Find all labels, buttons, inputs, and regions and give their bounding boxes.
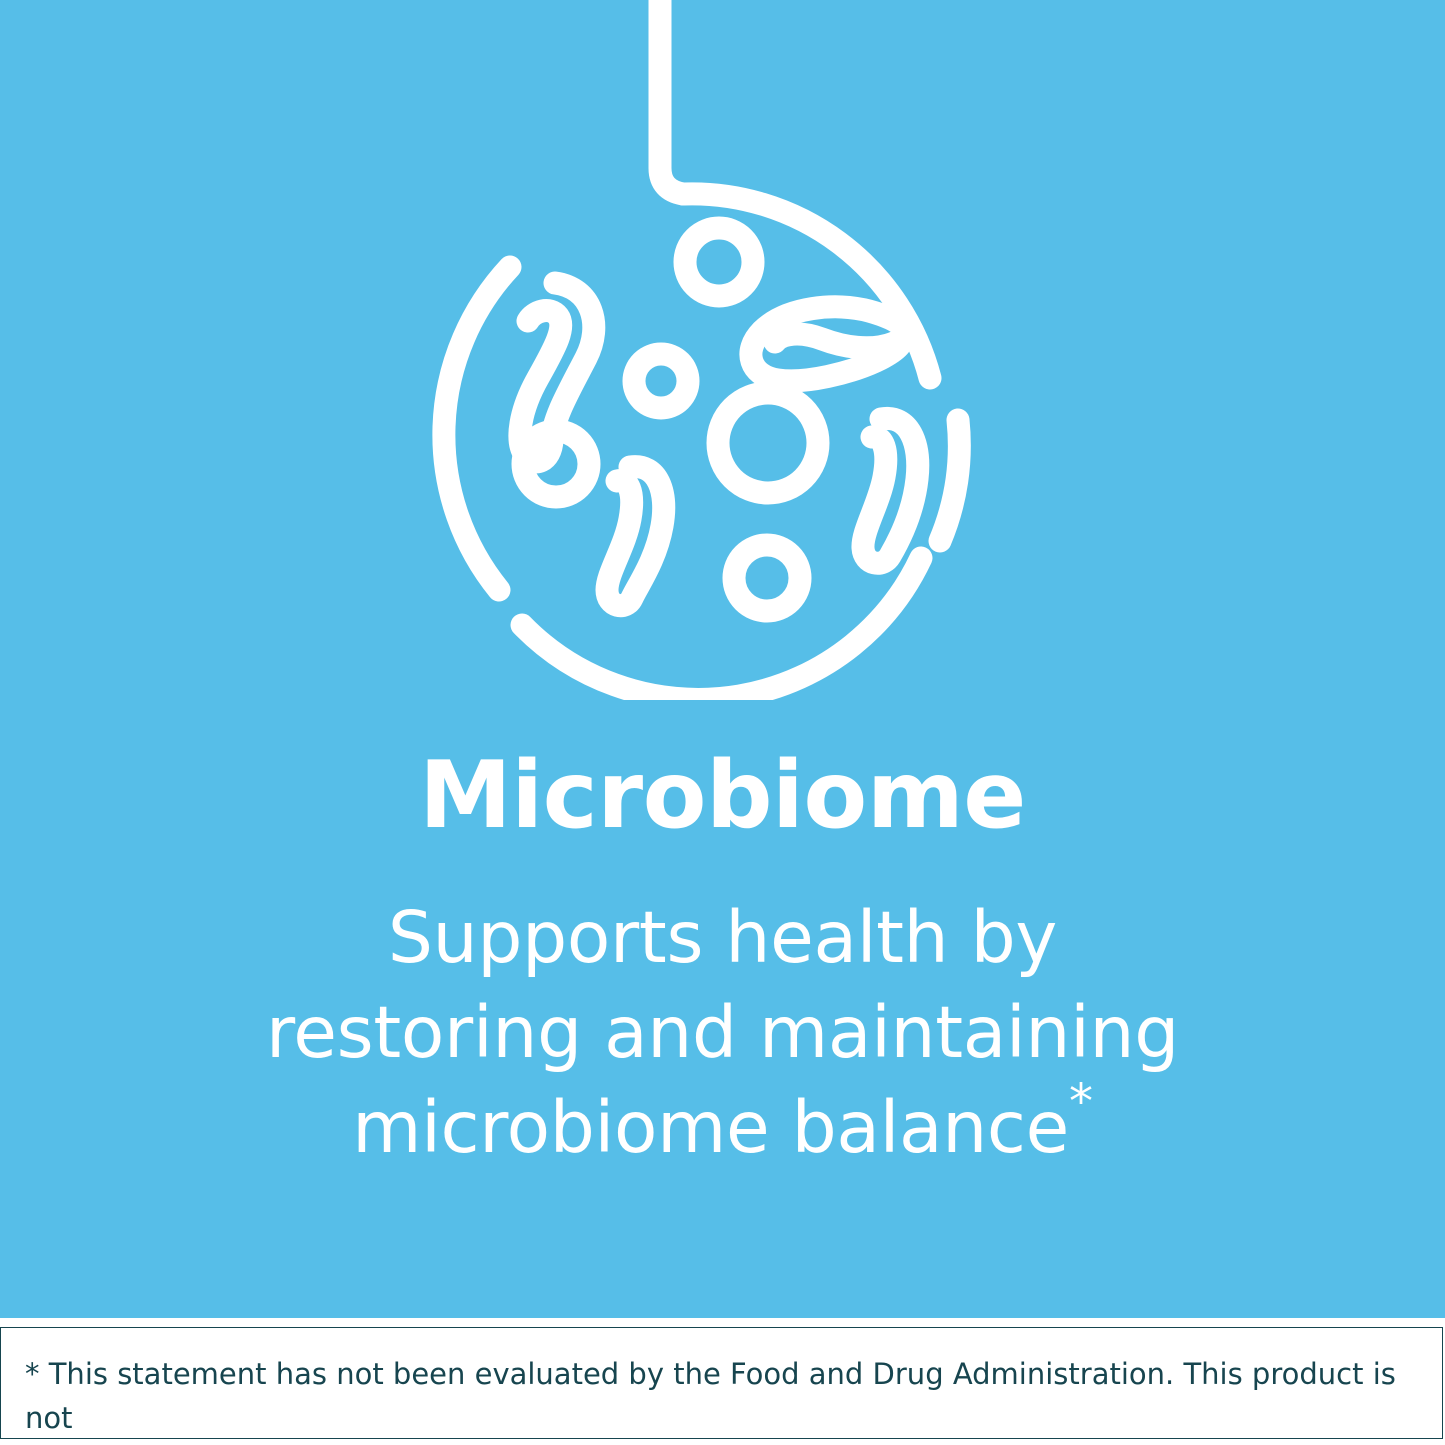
microbe-circle-large: [718, 393, 818, 493]
disclaimer-text: * This statement has not been evaluated …: [1, 1328, 1442, 1445]
dish-rim-left: [444, 267, 510, 590]
disclaimer-line-1: * This statement has not been evaluated …: [25, 1357, 1396, 1435]
hero-subtitle: Supports health by restoring and maintai…: [0, 850, 1445, 1175]
hanger-stem: [660, 0, 683, 194]
product-benefit-panel: Microbiome Supports health by restoring …: [0, 0, 1445, 1445]
page-title: Microbiome: [0, 740, 1445, 850]
microbe-circle-bottom: [734, 545, 800, 611]
subtitle-line-2: restoring and maintaining: [266, 991, 1179, 1074]
microbe-circle-small-center: [634, 354, 688, 408]
microbiome-petri-dish-icon: [0, 0, 1445, 700]
hero-text-block: Microbiome Supports health by restoring …: [0, 740, 1445, 1175]
microbe-rod-lower-center: [607, 467, 664, 606]
disclaimer-line-2: intended to diagnose, treat, cure, or pr…: [25, 1440, 1412, 1445]
footer-divider-gap: [0, 1318, 1445, 1327]
disclaimer-box: * This statement has not been evaluated …: [0, 1327, 1443, 1439]
microbe-circle-top: [685, 228, 753, 296]
microbe-rod-right: [863, 418, 918, 563]
subtitle-line-3: microbiome balance: [352, 1086, 1069, 1169]
dish-rim-bottom: [522, 558, 921, 699]
dish-rim-right: [940, 420, 959, 541]
subtitle-asterisk: *: [1069, 1074, 1093, 1130]
hero-blue-panel: Microbiome Supports health by restoring …: [0, 0, 1445, 1318]
subtitle-line-1: Supports health by: [388, 896, 1057, 979]
